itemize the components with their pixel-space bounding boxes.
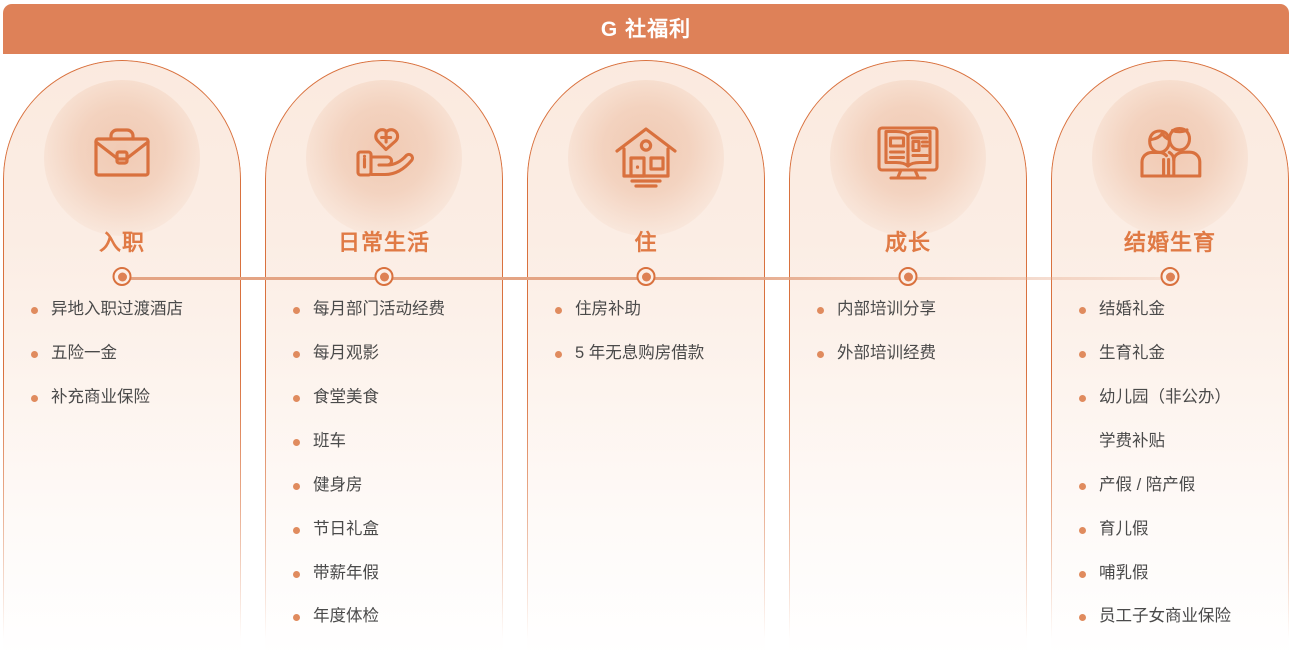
list-item: 每月观影 bbox=[287, 342, 485, 366]
list-item: 产假 / 陪产假 bbox=[1073, 474, 1271, 498]
monitor-book-icon bbox=[868, 114, 948, 194]
hand-heart-icon bbox=[344, 114, 424, 194]
benefit-list: 每月部门活动经费每月观影食堂美食班车健身房节日礼盒带薪年假年度体检 bbox=[265, 298, 503, 649]
list-item: 每月部门活动经费 bbox=[287, 298, 485, 322]
list-item: 外部培训经费 bbox=[811, 342, 1009, 366]
benefit-list: 内部培训分享外部培训经费 bbox=[789, 298, 1027, 386]
list-item: 健身房 bbox=[287, 474, 485, 498]
timeline-node-dot bbox=[637, 267, 656, 286]
list-item: 节日礼盒 bbox=[287, 518, 485, 542]
list-item: 补充商业保险 bbox=[25, 386, 223, 410]
benefit-card[interactable]: 成长内部培训分享外部培训经费 bbox=[789, 60, 1027, 657]
card-title: 入职 bbox=[3, 225, 241, 257]
card-row: 入职异地入职过渡酒店五险一金补充商业保险 日常生活每月部门活动经费每月观影食堂美… bbox=[0, 60, 1292, 657]
card-title: 住 bbox=[527, 225, 765, 257]
list-item: 幼儿园（非公办） bbox=[1073, 386, 1271, 410]
benefit-list: 住房补助5 年无息购房借款 bbox=[527, 298, 765, 386]
list-item: 员工子女商业保险 bbox=[1073, 605, 1271, 629]
page-title: G 社福利 bbox=[601, 19, 691, 40]
couple-icon bbox=[1130, 114, 1210, 194]
benefit-card[interactable]: 日常生活每月部门活动经费每月观影食堂美食班车健身房节日礼盒带薪年假年度体检 bbox=[265, 60, 503, 657]
list-item: 育儿假 bbox=[1073, 518, 1271, 542]
list-item: 五险一金 bbox=[25, 342, 223, 366]
list-item: 班车 bbox=[287, 430, 485, 454]
list-item: 结婚礼金 bbox=[1073, 298, 1271, 322]
list-item: 5 年无息购房借款 bbox=[549, 342, 747, 366]
list-item: 生育礼金 bbox=[1073, 342, 1271, 366]
list-item: 食堂美食 bbox=[287, 386, 485, 410]
timeline-node-dot bbox=[1161, 267, 1180, 286]
benefit-card[interactable]: 入职异地入职过渡酒店五险一金补充商业保险 bbox=[3, 60, 241, 657]
header-bar: G 社福利 bbox=[3, 4, 1289, 54]
benefit-list: 异地入职过渡酒店五险一金补充商业保险 bbox=[3, 298, 241, 430]
benefit-list: 结婚礼金生育礼金幼儿园（非公办）学费补贴产假 / 陪产假育儿假哺乳假员工子女商业… bbox=[1051, 298, 1289, 649]
list-item: 住房补助 bbox=[549, 298, 747, 322]
timeline-node-dot bbox=[375, 267, 394, 286]
benefit-card[interactable]: 结婚生育结婚礼金生育礼金幼儿园（非公办）学费补贴产假 / 陪产假育儿假哺乳假员工… bbox=[1051, 60, 1289, 657]
infographic-root: G 社福利 入职异地入职过渡酒店五险一金补充商业保险 日常生活每月部门活动经费每… bbox=[0, 0, 1292, 657]
timeline-node-dot bbox=[113, 267, 132, 286]
card-title: 成长 bbox=[789, 225, 1027, 257]
list-item: 带薪年假 bbox=[287, 562, 485, 586]
list-item: 学费补贴 bbox=[1073, 430, 1271, 454]
list-item: 年度体检 bbox=[287, 605, 485, 629]
house-icon bbox=[606, 114, 686, 194]
briefcase-icon bbox=[82, 114, 162, 194]
benefit-card[interactable]: 住住房补助5 年无息购房借款 bbox=[527, 60, 765, 657]
list-item: 哺乳假 bbox=[1073, 562, 1271, 586]
card-title: 日常生活 bbox=[265, 225, 503, 257]
list-item: 异地入职过渡酒店 bbox=[25, 298, 223, 322]
card-title: 结婚生育 bbox=[1051, 225, 1289, 257]
timeline-node-dot bbox=[899, 267, 918, 286]
list-item: 内部培训分享 bbox=[811, 298, 1009, 322]
